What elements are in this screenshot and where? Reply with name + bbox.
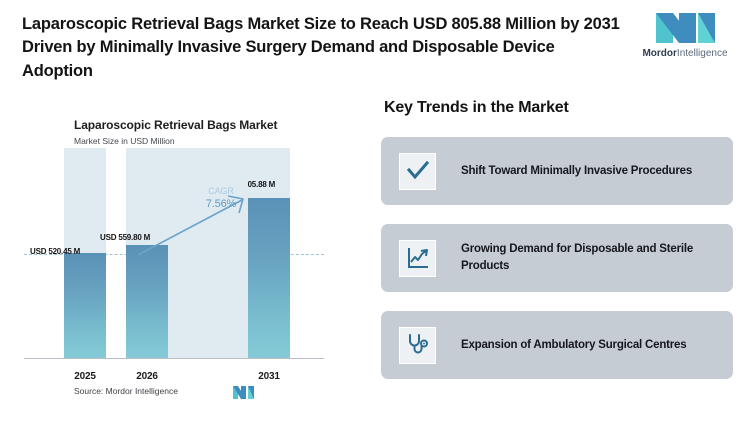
bar-fill-2031[interactable] [248,198,290,358]
brand-logo: MordorIntelligence [636,9,734,67]
bar-value-2026: USD 559.80 M [100,233,150,242]
trend-card-minimally-invasive[interactable]: Shift Toward Minimally Invasive Procedur… [381,137,733,205]
trend-card-label: Growing Demand for Disposable and Steril… [461,241,721,274]
x-axis-label-2026: 2026 [126,371,168,382]
trend-card-disposable-sterile[interactable]: Growing Demand for Disposable and Steril… [381,224,733,292]
x-axis-line [24,358,324,359]
bar-value-2025: USD 520.45 M [30,247,80,256]
bar-track-gap [168,148,248,358]
trend-card-ambulatory-centres[interactable]: Expansion of Ambulatory Surgical Centres [381,311,733,379]
line-chart-up-icon [399,240,436,277]
brand-wordmark: MordorIntelligence [636,48,734,60]
cagr-value: 7.56% [194,197,248,211]
bar-chart-plot: USD 520.45 M 2025 USD 559.80 M 2026 USD … [16,100,356,412]
bar-track-filler [168,148,248,358]
checkmark-icon [399,153,436,190]
mordor-m-mark-icon [636,9,734,47]
trends-panel: Key Trends in the Market Shift Toward Mi… [376,95,736,415]
source-mordor-m-mark-icon [232,385,258,400]
chart-panel: Laparoscopic Retrieval Bags Market Marke… [16,100,356,412]
x-axis-label-2025: 2025 [64,371,106,382]
trends-heading: Key Trends in the Market [384,99,569,117]
trend-cards-list: Shift Toward Minimally Invasive Procedur… [381,137,733,398]
cagr-annotation: CAGR 7.56% [194,185,248,211]
source-text: Source: Mordor Intelligence [74,386,178,396]
brand-word-light: Intelligence [677,48,728,59]
bar-fill-2026[interactable] [126,245,168,358]
cagr-label: CAGR [194,185,248,197]
trend-card-label: Expansion of Ambulatory Surgical Centres [461,337,686,354]
brand-word-bold: Mordor [642,48,676,59]
page-title: Laparoscopic Retrieval Bags Market Size … [22,13,622,83]
trend-card-label: Shift Toward Minimally Invasive Procedur… [461,163,692,180]
x-axis-label-2031: 2031 [248,371,290,382]
stethoscope-icon [399,327,436,364]
bar-fill-2025[interactable] [64,253,106,358]
bar-slot-2026 [126,148,168,358]
header: Laparoscopic Retrieval Bags Market Size … [0,0,750,92]
